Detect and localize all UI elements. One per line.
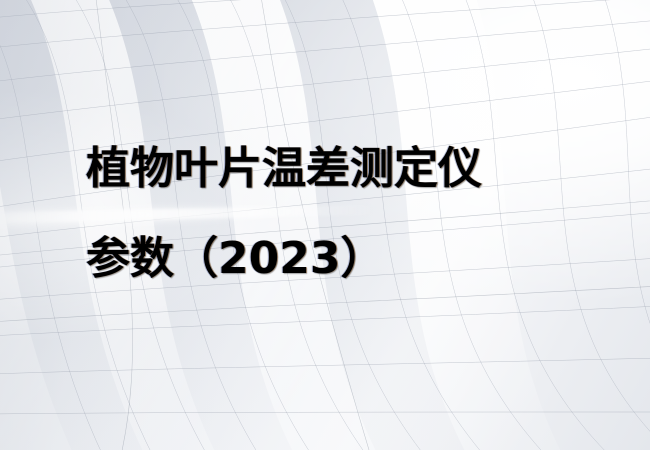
- title-line-1: 植物叶片温差测定仪: [86, 124, 606, 214]
- title-line-2: 参数（2023）: [86, 214, 606, 304]
- title-slide: 植物叶片温差测定仪 参数（2023）: [0, 0, 650, 450]
- slide-title: 植物叶片温差测定仪 参数（2023）: [86, 124, 606, 304]
